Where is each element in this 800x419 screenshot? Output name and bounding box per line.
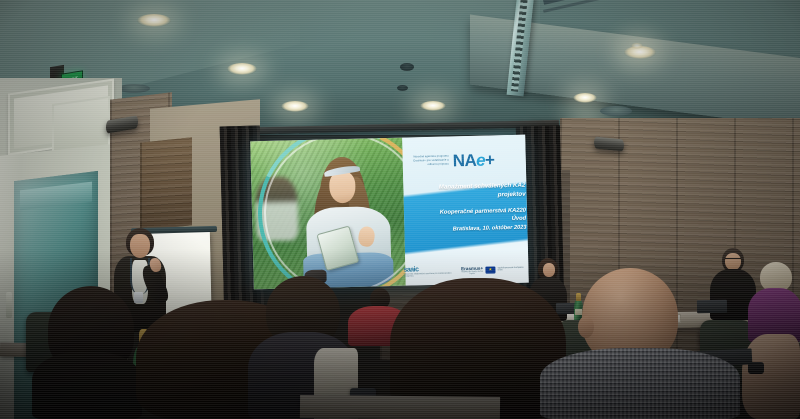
foreground-hand-right xyxy=(742,334,800,419)
erasmus-logo-subtext: Obohacuje životy, otvára mysle xyxy=(459,270,485,275)
na-logo-plus: + xyxy=(485,150,495,169)
downlight-6 xyxy=(631,43,643,49)
attendee-purple-top xyxy=(742,262,800,342)
ceiling-smoke-detector-icon xyxy=(397,85,408,91)
ceiling-vent-2 xyxy=(600,106,632,116)
saaic-logo: saaic Slovenská akademická asociácia pre… xyxy=(403,265,459,277)
slide-header: Národná agentúra programu Erasmus+ pre v… xyxy=(406,141,525,180)
presenter-face xyxy=(130,234,150,258)
downlight-1 xyxy=(137,14,171,27)
table-foreground xyxy=(300,395,500,419)
slide-title-line-2: projektov xyxy=(406,190,526,202)
eu-cofunded-logo: ★ Spolufinancované Európskou úniou xyxy=(485,265,527,273)
ceiling-speaker-icon xyxy=(400,63,414,71)
foreground-attendee-5-shirt xyxy=(540,348,740,419)
saaic-logo-text: saaic xyxy=(403,266,418,273)
ceiling-vent-1 xyxy=(118,84,150,93)
downlight-4 xyxy=(420,101,446,111)
foreground-attendee-1 xyxy=(32,286,142,419)
door-handle[interactable] xyxy=(6,292,12,318)
erasmus-plus-logo: Erasmus+ Obohacuje životy, otvára mysle xyxy=(459,265,485,275)
saaic-logo-subtext: Slovenská akademická asociácia pre medzi… xyxy=(403,272,459,277)
conference-room-photo: EXIT xyxy=(0,0,800,419)
downlight-7 xyxy=(573,93,597,103)
downlight-3 xyxy=(281,101,309,112)
na-logo-text: NA xyxy=(453,150,477,170)
slide-agency-text: Národná agentúra programu Erasmus+ pre v… xyxy=(407,155,449,168)
projection-screen: Národná agentúra programu Erasmus+ pre v… xyxy=(250,135,529,290)
foreground-attendee-5 xyxy=(540,268,740,419)
na-erasmus-logo: NAe+ xyxy=(453,151,495,169)
eu-cofunded-label: Spolufinancované Európskou úniou xyxy=(498,267,528,272)
slide-text-block: Manažment schválených KA2 projektov Koop… xyxy=(405,181,526,235)
panelist-right-glasses-icon xyxy=(725,258,741,261)
wall-art-panel xyxy=(140,137,192,230)
downlight-2 xyxy=(227,63,257,75)
eu-flag-icon: ★ xyxy=(485,266,496,273)
foreground-attendee-1-torso xyxy=(32,352,142,419)
foreground-attendee-5-ear xyxy=(578,316,594,338)
